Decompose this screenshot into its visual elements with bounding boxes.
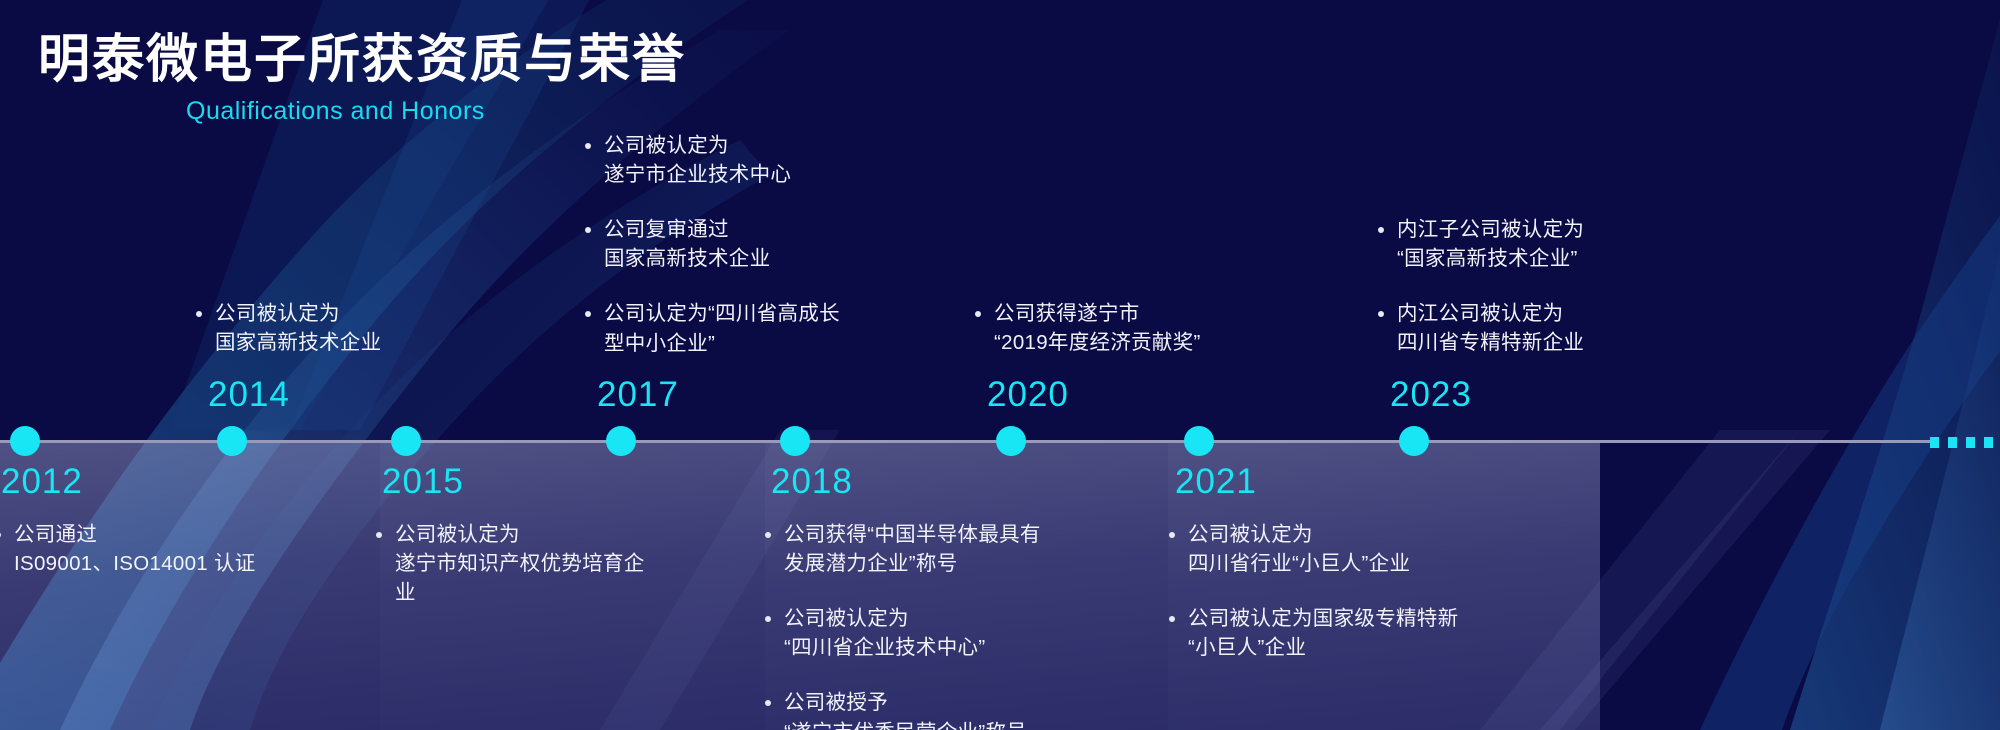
year-label-2017: 2017 <box>597 375 679 415</box>
bullet-marker-icon <box>1169 532 1175 538</box>
bullet-group-2018: 公司获得“中国半导体最具有 发展潜力企业”称号公司被认定为 “四川省企业技术中心… <box>765 520 1041 730</box>
bullet-marker-icon <box>1169 616 1175 622</box>
bullet-marker-icon <box>765 532 771 538</box>
bullet-text: 公司获得遂宁市 “2019年度经济贡献奖” <box>994 299 1201 357</box>
bullet-text: 公司被认定为 遂宁市企业技术中心 <box>604 131 791 189</box>
bullet-text: 内江公司被认定为 四川省专精特新企业 <box>1397 299 1584 357</box>
bullet-text: 公司获得“中国半导体最具有 发展潜力企业”称号 <box>784 520 1041 578</box>
bullet-text: 公司通过 IS09001、ISO14001 认证 <box>14 520 256 578</box>
bullet-marker-icon <box>1378 311 1384 317</box>
bullet-group-2014: 公司被认定为 国家高新技术企业 <box>196 299 381 357</box>
bullet-marker-icon <box>585 227 591 233</box>
bullet-item: 公司通过 IS09001、ISO14001 认证 <box>0 520 256 578</box>
axis-dash <box>1930 437 1939 448</box>
bullet-marker-icon <box>975 311 981 317</box>
year-label-2018: 2018 <box>771 462 853 502</box>
bullet-marker-icon <box>765 616 771 622</box>
timeline-dot-2020[interactable] <box>996 426 1026 456</box>
year-label-2015: 2015 <box>382 462 464 502</box>
bullet-item: 公司被认定为 国家高新技术企业 <box>196 299 381 357</box>
page-title: 明泰微电子所获资质与荣誉 <box>38 32 686 89</box>
bullet-item: 内江子公司被认定为 “国家高新技术企业” <box>1378 215 1584 273</box>
timeline-dot-2017[interactable] <box>606 426 636 456</box>
bullet-group-2015: 公司被认定为 遂宁市知识产权优势培育企 业 <box>376 520 645 607</box>
bullet-item: 公司认定为“四川省高成长 型中小企业” <box>585 299 840 357</box>
bullet-item: 公司被认定为 遂宁市知识产权优势培育企 业 <box>376 520 645 607</box>
axis-dash <box>1984 437 1993 448</box>
page-subtitle: Qualifications and Honors <box>186 97 686 126</box>
bullet-text: 内江子公司被认定为 “国家高新技术企业” <box>1397 215 1584 273</box>
page-title-block: 明泰微电子所获资质与荣誉 Qualifications and Honors <box>38 32 686 126</box>
bullet-text: 公司被认定为 “四川省企业技术中心” <box>784 604 985 662</box>
axis-dash <box>1966 437 1975 448</box>
year-label-2020: 2020 <box>987 375 1069 415</box>
bullet-group-2020: 公司获得遂宁市 “2019年度经济贡献奖” <box>975 299 1201 357</box>
year-label-2021: 2021 <box>1175 462 1257 502</box>
bullet-text: 公司被认定为 四川省行业“小巨人”企业 <box>1188 520 1410 578</box>
bullet-item: 公司被认定为 遂宁市企业技术中心 <box>585 131 840 189</box>
bullet-text: 公司被认定为国家级专精特新 “小巨人”企业 <box>1188 604 1458 662</box>
bullet-marker-icon <box>1378 227 1384 233</box>
bullet-text: 公司认定为“四川省高成长 型中小企业” <box>604 299 840 357</box>
year-label-2014: 2014 <box>208 375 290 415</box>
bullet-item: 公司获得遂宁市 “2019年度经济贡献奖” <box>975 299 1201 357</box>
timeline-dot-2021[interactable] <box>1184 426 1214 456</box>
bullet-item: 公司获得“中国半导体最具有 发展潜力企业”称号 <box>765 520 1041 578</box>
timeline-axis-line <box>0 440 1930 443</box>
bullet-marker-icon <box>585 143 591 149</box>
bullet-text: 公司复审通过 国家高新技术企业 <box>604 215 770 273</box>
bullet-marker-icon <box>196 311 202 317</box>
bullet-group-2021: 公司被认定为 四川省行业“小巨人”企业公司被认定为国家级专精特新 “小巨人”企业 <box>1169 520 1458 662</box>
timeline-dot-2018[interactable] <box>780 426 810 456</box>
timeline-dot-2012[interactable] <box>10 426 40 456</box>
bullet-marker-icon <box>585 311 591 317</box>
bullet-item: 公司被认定为国家级专精特新 “小巨人”企业 <box>1169 604 1458 662</box>
timeline-dot-2014[interactable] <box>217 426 247 456</box>
bullet-marker-icon <box>376 532 382 538</box>
timeline-dot-2023[interactable] <box>1399 426 1429 456</box>
bullet-marker-icon <box>0 532 1 538</box>
bullet-item: 公司被认定为 “四川省企业技术中心” <box>765 604 1041 662</box>
bullet-marker-icon <box>765 700 771 706</box>
bullet-group-2012: 公司通过 IS09001、ISO14001 认证 <box>0 520 256 578</box>
bullet-group-2023: 内江子公司被认定为 “国家高新技术企业”内江公司被认定为 四川省专精特新企业 <box>1378 215 1584 357</box>
bullet-text: 公司被授予 “遂宁市优秀民营企业”称号 <box>784 688 1027 730</box>
timeline-infographic: 明泰微电子所获资质与荣誉 Qualifications and Honors 2… <box>0 0 2000 730</box>
year-label-2023: 2023 <box>1390 375 1472 415</box>
bullet-item: 公司被授予 “遂宁市优秀民营企业”称号 <box>765 688 1041 730</box>
axis-dash <box>1948 437 1957 448</box>
timeline-dot-2015[interactable] <box>391 426 421 456</box>
bullet-item: 公司被认定为 四川省行业“小巨人”企业 <box>1169 520 1458 578</box>
timeline-axis-dashes <box>1930 437 2000 448</box>
bullet-group-2017: 公司被认定为 遂宁市企业技术中心公司复审通过 国家高新技术企业公司认定为“四川省… <box>585 131 840 358</box>
bullet-item: 公司复审通过 国家高新技术企业 <box>585 215 840 273</box>
bullet-item: 内江公司被认定为 四川省专精特新企业 <box>1378 299 1584 357</box>
bullet-text: 公司被认定为 国家高新技术企业 <box>215 299 381 357</box>
bullet-text: 公司被认定为 遂宁市知识产权优势培育企 业 <box>395 520 645 607</box>
year-label-2012: 2012 <box>1 462 83 502</box>
